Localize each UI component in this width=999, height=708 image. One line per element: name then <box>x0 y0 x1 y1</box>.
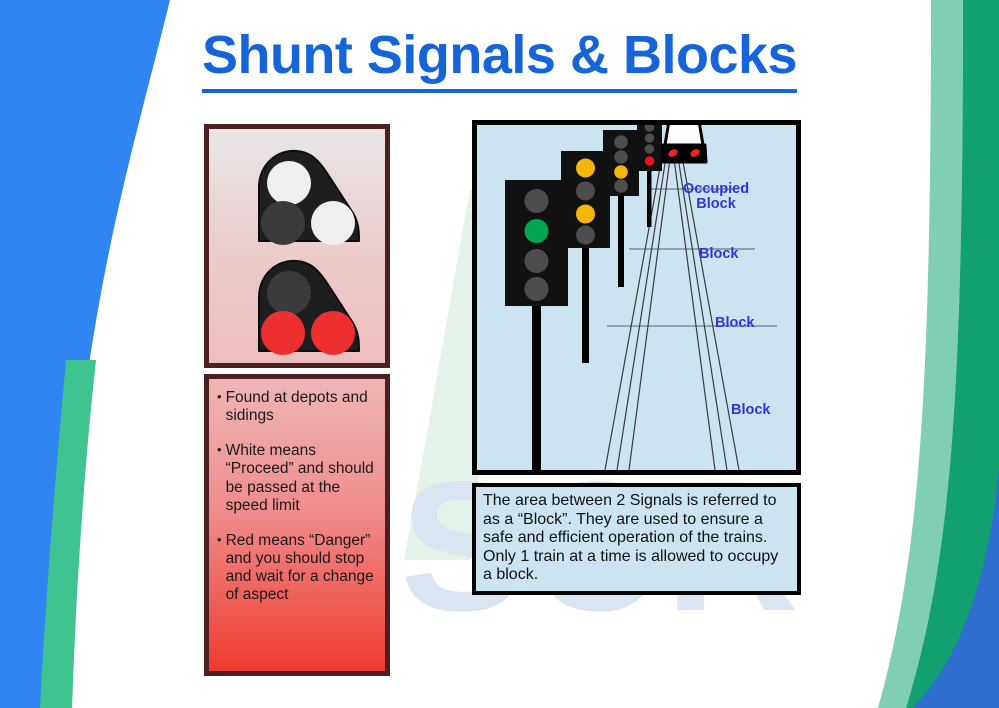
lamp-yellow-lit <box>614 165 628 179</box>
label-block-4: Block <box>731 403 771 418</box>
list-item: • Found at depots and sidings <box>217 389 377 425</box>
lamp-red-lit <box>645 156 655 166</box>
list-item: • Red means “Danger” and you should stop… <box>217 532 377 605</box>
lamp-top-white <box>267 161 311 205</box>
train-rear-graphic <box>662 125 706 162</box>
lamp-yellow-lit-third <box>576 205 595 224</box>
left-green-sliver-shape <box>40 360 96 708</box>
block-diagram-panel: Occupied Block Block Block Block <box>472 120 801 475</box>
bullet-dot-icon: • <box>217 389 222 425</box>
bullet-dot-icon: • <box>217 442 222 515</box>
page-title-text: Shunt Signals & Blocks <box>202 24 797 93</box>
label-block-2: Block <box>699 247 739 262</box>
lamp-bottomright-white <box>311 201 355 245</box>
block-diagram-graphic <box>477 125 796 470</box>
shunt-signal-illustrations <box>231 139 371 359</box>
list-item: • White means “Proceed” and should be pa… <box>217 442 377 515</box>
shunt-signal-danger-graphic <box>259 261 359 355</box>
right-blue-curve-shape <box>912 468 999 708</box>
label-block-3: Block <box>715 316 755 331</box>
page-title: Shunt Signals & Blocks <box>0 24 999 93</box>
label-occupied-block: Occupied Block <box>683 182 749 212</box>
shunt-signal-facts-panel: • Found at depots and sidings • White me… <box>204 374 390 676</box>
shunt-signal-image-panel <box>204 124 390 368</box>
left-blue-curve-shape <box>0 0 170 708</box>
bullet-text: Found at depots and sidings <box>226 389 377 425</box>
lamp-green-lit <box>525 219 549 243</box>
slide-canvas: SCR Shunt Signals & Blocks • <box>0 0 999 708</box>
block-definition-caption: The area between 2 Signals is referred t… <box>472 483 801 595</box>
right-dark-green-stripe-shape <box>906 0 999 708</box>
signal-2-graphic <box>561 151 610 363</box>
lamp-top-unlit <box>267 271 311 315</box>
bullet-text: White means “Proceed” and should be pass… <box>226 442 377 515</box>
signal-1-nearest-graphic <box>505 180 568 470</box>
lamp-bottomleft-unlit <box>261 201 305 245</box>
lamp-bottomleft-red <box>261 311 305 355</box>
shunt-signal-proceed-graphic <box>259 151 359 245</box>
lamp-bottomright-red <box>311 311 355 355</box>
bullet-text: Red means “Danger” and you should stop a… <box>226 532 377 605</box>
lamp-yellow-lit-top <box>576 159 595 178</box>
bullet-dot-icon: • <box>217 532 222 605</box>
right-light-green-stripe-shape <box>878 0 963 708</box>
